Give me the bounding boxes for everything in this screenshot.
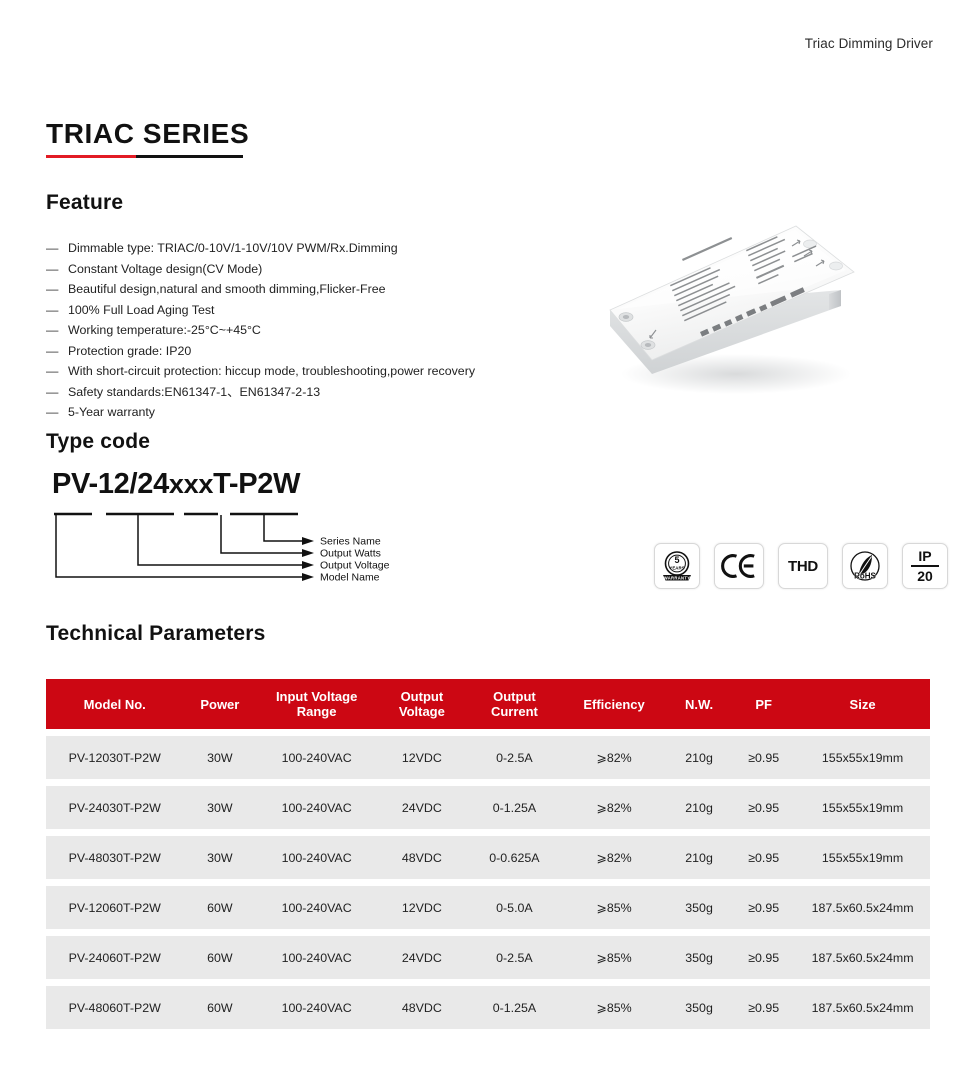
table-header-row: Model No. Power Input Voltage Range Outp… xyxy=(46,679,930,729)
feature-list: —Dimmable type: TRIAC/0-10V/1-10V/10V PW… xyxy=(46,238,566,423)
certification-badges: 5 YEARS WARRANTY THD RoHS IP 20 xyxy=(654,543,948,589)
cell-input-voltage-range: 100-240VAC xyxy=(256,736,377,779)
type-code-xxx: xxx xyxy=(169,469,213,499)
col-header-output-voltage-line2: Voltage xyxy=(399,704,445,719)
cell-efficiency: ⩾82% xyxy=(562,836,666,879)
col-header-efficiency: Efficiency xyxy=(562,679,666,729)
table-row: PV-12060T-P2W60W100-240VAC12VDC0-5.0A⩾85… xyxy=(46,886,930,929)
feature-item-label: Constant Voltage design(CV Mode) xyxy=(68,259,262,280)
page-title: TRIAC SERIES xyxy=(46,118,249,150)
svg-text:YEARS: YEARS xyxy=(669,566,684,571)
cell-output-voltage: 12VDC xyxy=(377,736,467,779)
cell-efficiency: ⩾85% xyxy=(562,936,666,979)
feature-item: —With short-circuit protection: hiccup m… xyxy=(46,361,566,382)
title-underline-rule xyxy=(46,155,243,158)
cell-size: 155x55x19mm xyxy=(795,786,930,829)
type-code-diagram: PV-12/24xxxT-P2W Series Name xyxy=(46,468,466,598)
feature-item-label: Dimmable type: TRIAC/0-10V/1-10V/10V PWM… xyxy=(68,238,398,259)
title-rule-red-segment xyxy=(46,155,136,158)
col-header-input-voltage-range: Input Voltage Range xyxy=(256,679,377,729)
type-code-string: PV-12/24xxxT-P2W xyxy=(52,468,300,501)
col-header-pf: PF xyxy=(732,679,795,729)
svg-text:5: 5 xyxy=(674,555,679,565)
cell-power: 30W xyxy=(183,786,256,829)
feature-bullet-dash-icon: — xyxy=(46,320,68,341)
col-header-size: Size xyxy=(795,679,930,729)
table-row: PV-48060T-P2W60W100-240VAC48VDC0-1.25A⩾8… xyxy=(46,986,930,1029)
cell-nw: 210g xyxy=(666,736,732,779)
cell-size: 187.5x60.5x24mm xyxy=(795,986,930,1029)
ip20-badge-bottom: 20 xyxy=(917,567,933,583)
cell-power: 60W xyxy=(183,886,256,929)
product-photo-triac-driver xyxy=(596,214,864,406)
feature-item: —Protection grade: IP20 xyxy=(46,341,566,362)
cell-input-voltage-range: 100-240VAC xyxy=(256,936,377,979)
col-header-output-voltage-line1: Output xyxy=(401,689,444,704)
ip20-badge: IP 20 xyxy=(902,543,948,589)
cell-pf: ≥0.95 xyxy=(732,736,795,779)
cell-output-voltage: 12VDC xyxy=(377,886,467,929)
section-heading-type-code: Type code xyxy=(46,430,150,454)
feature-bullet-dash-icon: — xyxy=(46,259,68,280)
cell-efficiency: ⩾82% xyxy=(562,736,666,779)
page-header-label: Triac Dimming Driver xyxy=(805,36,933,51)
cell-input-voltage-range: 100-240VAC xyxy=(256,986,377,1029)
feature-item: —Safety standards:EN61347-1、EN61347-2-13 xyxy=(46,382,566,403)
table-row: PV-48030T-P2W30W100-240VAC48VDC0-0.625A⩾… xyxy=(46,836,930,879)
table-row: PV-24060T-P2W60W100-240VAC24VDC0-2.5A⩾85… xyxy=(46,936,930,979)
cell-output-current: 0-2.5A xyxy=(467,936,562,979)
cell-model-no: PV-12030T-P2W xyxy=(46,736,183,779)
type-code-suffix: T-P2W xyxy=(213,468,300,500)
cell-power: 60W xyxy=(183,936,256,979)
cell-pf: ≥0.95 xyxy=(732,986,795,1029)
section-heading-technical-parameters: Technical Parameters xyxy=(46,622,266,646)
feature-item-label: Working temperature:-25°C~+45°C xyxy=(68,320,261,341)
col-header-output-voltage: Output Voltage xyxy=(377,679,467,729)
thd-badge: THD xyxy=(778,543,828,589)
cell-input-voltage-range: 100-240VAC xyxy=(256,786,377,829)
col-header-model-no: Model No. xyxy=(46,679,183,729)
svg-text:WARRANTY: WARRANTY xyxy=(664,575,691,580)
cell-output-current: 0-0.625A xyxy=(467,836,562,879)
col-header-output-current-line2: Current xyxy=(491,704,538,719)
technical-parameters-table: Model No. Power Input Voltage Range Outp… xyxy=(46,672,930,1036)
cell-model-no: PV-48060T-P2W xyxy=(46,986,183,1029)
col-header-power: Power xyxy=(183,679,256,729)
type-code-prefix: PV-12/24 xyxy=(52,468,169,500)
feature-bullet-dash-icon: — xyxy=(46,300,68,321)
table-row: PV-24030T-P2W30W100-240VAC24VDC0-1.25A⩾8… xyxy=(46,786,930,829)
table-row: PV-12030T-P2W30W100-240VAC12VDC0-2.5A⩾82… xyxy=(46,736,930,779)
technical-parameters-table-wrap: Model No. Power Input Voltage Range Outp… xyxy=(46,672,930,1036)
cell-nw: 350g xyxy=(666,936,732,979)
cell-output-voltage: 48VDC xyxy=(377,836,467,879)
feature-item-label: 100% Full Load Aging Test xyxy=(68,300,215,321)
cell-input-voltage-range: 100-240VAC xyxy=(256,836,377,879)
thd-badge-label: THD xyxy=(788,558,818,575)
cell-nw: 350g xyxy=(666,886,732,929)
cell-output-current: 0-2.5A xyxy=(467,736,562,779)
ip20-badge-top: IP xyxy=(918,549,931,565)
type-code-label-output-voltage: Output Voltage xyxy=(320,560,390,572)
cell-efficiency: ⩾85% xyxy=(562,986,666,1029)
feature-item-label: Safety standards:EN61347-1、EN61347-2-13 xyxy=(68,382,320,403)
svg-text:RoHS: RoHS xyxy=(854,572,876,581)
feature-item: —Constant Voltage design(CV Mode) xyxy=(46,259,566,280)
cell-output-voltage: 24VDC xyxy=(377,786,467,829)
feature-bullet-dash-icon: — xyxy=(46,361,68,382)
cell-power: 30W xyxy=(183,836,256,879)
feature-item: —100% Full Load Aging Test xyxy=(46,300,566,321)
cell-model-no: PV-24030T-P2W xyxy=(46,786,183,829)
cell-size: 155x55x19mm xyxy=(795,736,930,779)
cell-size: 187.5x60.5x24mm xyxy=(795,886,930,929)
cell-power: 30W xyxy=(183,736,256,779)
warranty-5-years-badge: 5 YEARS WARRANTY xyxy=(654,543,700,589)
feature-bullet-dash-icon: — xyxy=(46,402,68,423)
type-code-label-output-watts: Output Watts xyxy=(320,548,381,560)
type-code-label-model-name: Model Name xyxy=(320,572,380,584)
feature-bullet-dash-icon: — xyxy=(46,238,68,259)
cell-power: 60W xyxy=(183,986,256,1029)
cell-nw: 210g xyxy=(666,836,732,879)
cell-model-no: PV-24060T-P2W xyxy=(46,936,183,979)
cell-input-voltage-range: 100-240VAC xyxy=(256,886,377,929)
feature-item-label: With short-circuit protection: hiccup mo… xyxy=(68,361,475,382)
cell-output-current: 0-1.25A xyxy=(467,786,562,829)
feature-item-label: 5-Year warranty xyxy=(68,402,155,423)
cell-model-no: PV-48030T-P2W xyxy=(46,836,183,879)
cell-model-no: PV-12060T-P2W xyxy=(46,886,183,929)
cell-nw: 210g xyxy=(666,786,732,829)
cell-output-voltage: 24VDC xyxy=(377,936,467,979)
cell-nw: 350g xyxy=(666,986,732,1029)
col-header-output-current-line1: Output xyxy=(493,689,536,704)
feature-item: —5-Year warranty xyxy=(46,402,566,423)
ce-badge xyxy=(714,543,764,589)
col-header-nw: N.W. xyxy=(666,679,732,729)
rohs-badge: RoHS xyxy=(842,543,888,589)
col-header-input-voltage-line1: Input Voltage xyxy=(276,689,357,704)
cell-pf: ≥0.95 xyxy=(732,936,795,979)
cell-pf: ≥0.95 xyxy=(732,886,795,929)
cell-size: 155x55x19mm xyxy=(795,836,930,879)
feature-item: —Beautiful design,natural and smooth dim… xyxy=(46,279,566,300)
cell-output-current: 0-1.25A xyxy=(467,986,562,1029)
cell-pf: ≥0.95 xyxy=(732,786,795,829)
cell-efficiency: ⩾82% xyxy=(562,786,666,829)
table-header: Model No. Power Input Voltage Range Outp… xyxy=(46,679,930,729)
section-heading-feature: Feature xyxy=(46,191,123,215)
feature-item: —Working temperature:-25°C~+45°C xyxy=(46,320,566,341)
feature-item-label: Beautiful design,natural and smooth dimm… xyxy=(68,279,386,300)
table-body: PV-12030T-P2W30W100-240VAC12VDC0-2.5A⩾82… xyxy=(46,736,930,1029)
col-header-input-voltage-line2: Range xyxy=(297,704,337,719)
col-header-output-current: Output Current xyxy=(467,679,562,729)
feature-bullet-dash-icon: — xyxy=(46,341,68,362)
title-rule-black-segment xyxy=(136,155,243,158)
cell-size: 187.5x60.5x24mm xyxy=(795,936,930,979)
feature-bullet-dash-icon: — xyxy=(46,382,68,403)
type-code-label-series-name: Series Name xyxy=(320,536,381,548)
cell-output-current: 0-5.0A xyxy=(467,886,562,929)
cell-efficiency: ⩾85% xyxy=(562,886,666,929)
cell-pf: ≥0.95 xyxy=(732,836,795,879)
feature-item: —Dimmable type: TRIAC/0-10V/1-10V/10V PW… xyxy=(46,238,566,259)
feature-bullet-dash-icon: — xyxy=(46,279,68,300)
feature-item-label: Protection grade: IP20 xyxy=(68,341,191,362)
cell-output-voltage: 48VDC xyxy=(377,986,467,1029)
